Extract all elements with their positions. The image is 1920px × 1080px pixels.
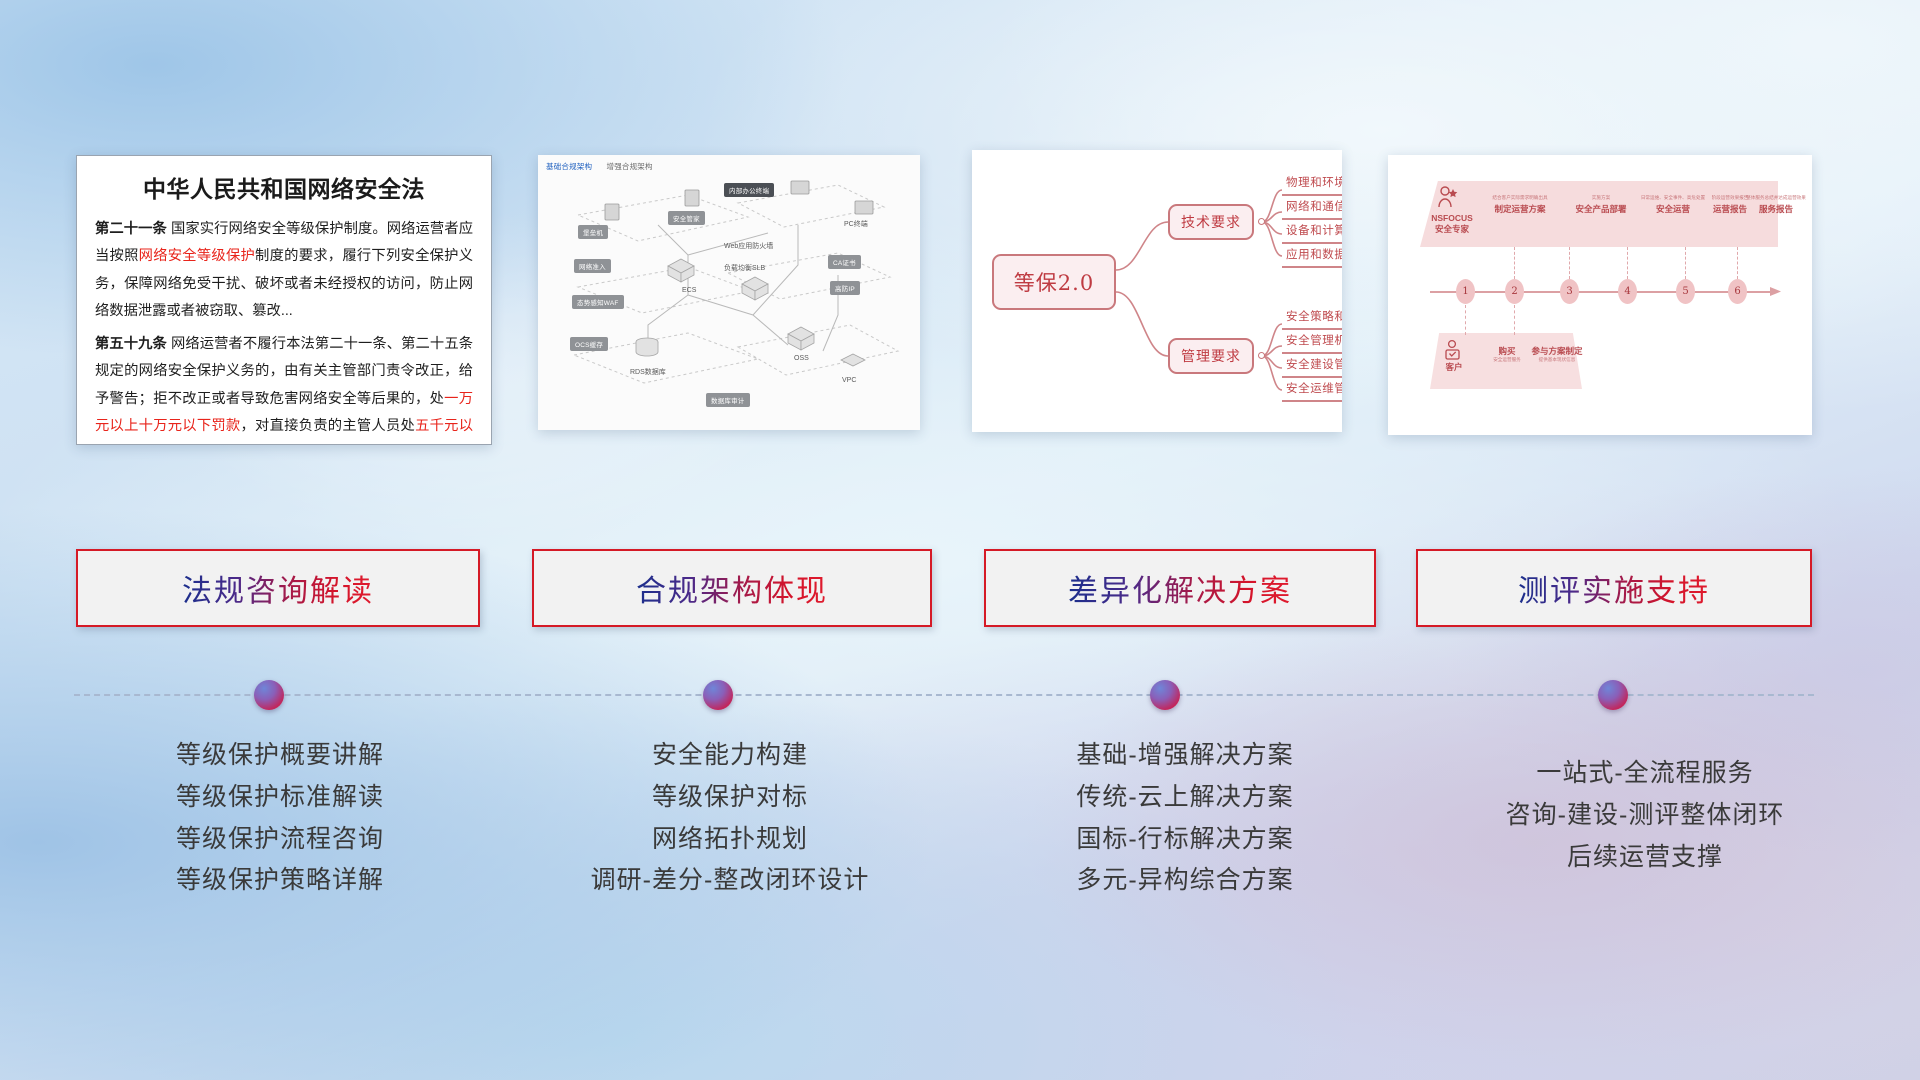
list-item: 后续运营支撑: [1420, 837, 1870, 879]
section-title-row: 法规咨询解读 合规架构体现 差异化解决方案 测评实施支持: [0, 0, 1920, 1080]
section-items-4: 一站式-全流程服务 咨询-建设-测评整体闭环 后续运营支撑: [1420, 753, 1870, 878]
timeline-dot-2[interactable]: [703, 680, 733, 710]
list-item: 等级保护标准解读: [60, 777, 500, 819]
list-item: 多元-异构综合方案: [960, 860, 1410, 902]
list-item: 安全能力构建: [505, 735, 955, 777]
timeline-dot-1[interactable]: [254, 680, 284, 710]
section-title-label-1: 法规咨询解读: [182, 566, 374, 610]
section-items-1: 等级保护概要讲解 等级保护标准解读 等级保护流程咨询 等级保护策略详解: [60, 735, 500, 902]
list-item: 等级保护策略详解: [60, 860, 500, 902]
list-item: 传统-云上解决方案: [960, 777, 1410, 819]
list-item: 基础-增强解决方案: [960, 735, 1410, 777]
list-item: 一站式-全流程服务: [1420, 753, 1870, 795]
list-item: 等级保护对标: [505, 777, 955, 819]
list-item: 等级保护概要讲解: [60, 735, 500, 777]
section-title-label-2: 合规架构体现: [636, 566, 828, 610]
section-title-box-2[interactable]: 合规架构体现: [532, 549, 932, 627]
slide-stage: 中华人民共和国网络安全法 第二十一条 国家实行网络安全等级保护制度。网络运营者应…: [0, 0, 1920, 1080]
section-title-label-4: 测评实施支持: [1518, 566, 1710, 610]
section-title-box-1[interactable]: 法规咨询解读: [76, 549, 480, 627]
list-item: 网络拓扑规划: [505, 819, 955, 861]
list-item: 咨询-建设-测评整体闭环: [1420, 795, 1870, 837]
timeline-dot-4[interactable]: [1598, 680, 1628, 710]
section-title-box-4[interactable]: 测评实施支持: [1416, 549, 1812, 627]
list-item: 等级保护流程咨询: [60, 819, 500, 861]
timeline-dot-3[interactable]: [1150, 680, 1180, 710]
section-items-2: 安全能力构建 等级保护对标 网络拓扑规划 调研-差分-整改闭环设计: [505, 735, 955, 902]
section-title-label-3: 差异化解决方案: [1068, 566, 1292, 610]
section-title-box-3[interactable]: 差异化解决方案: [984, 549, 1376, 627]
timeline-dashed-line: [74, 694, 1814, 696]
list-item: 国标-行标解决方案: [960, 819, 1410, 861]
section-items-3: 基础-增强解决方案 传统-云上解决方案 国标-行标解决方案 多元-异构综合方案: [960, 735, 1410, 902]
list-item: 调研-差分-整改闭环设计: [505, 860, 955, 902]
